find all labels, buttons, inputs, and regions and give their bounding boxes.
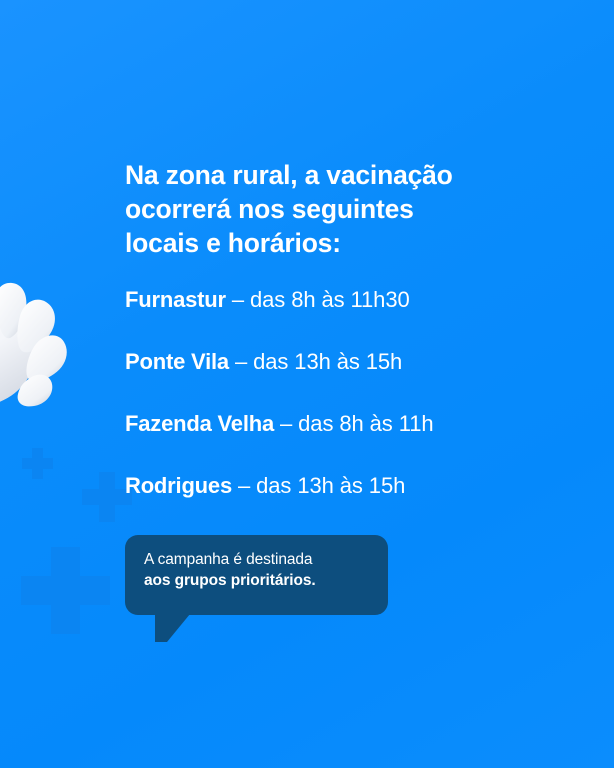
vaccination-campaign-poster: Na zona rural, a vacinação ocorrerá nos … <box>0 0 614 768</box>
list-item: Ponte Vila – das 13h às 15h <box>125 347 595 409</box>
page-title: Na zona rural, a vacinação ocorrerá nos … <box>125 158 505 260</box>
schedule-hours: – das 13h às 15h <box>229 349 402 374</box>
callout-bubble: A campanha é destinada aos grupos priori… <box>125 535 388 615</box>
poster-content: Na zona rural, a vacinação ocorrerá nos … <box>125 0 595 768</box>
list-item: Rodrigues – das 13h às 15h <box>125 471 595 533</box>
medical-cross-icon-large <box>21 547 110 634</box>
headline-line-2: ocorrerá nos seguintes <box>125 192 505 226</box>
schedule-place: Fazenda Velha <box>125 411 274 436</box>
gloved-hand-icon <box>0 282 102 408</box>
callout-line-2: aos grupos prioritários. <box>144 570 376 591</box>
medical-cross-icon-small <box>22 448 53 479</box>
headline-line-1: Na zona rural, a vacinação <box>125 158 505 192</box>
schedule-list: Furnastur – das 8h às 11h30 Ponte Vila –… <box>125 285 595 533</box>
list-item: Fazenda Velha – das 8h às 11h <box>125 409 595 471</box>
callout-line-1: A campanha é destinada <box>144 549 376 570</box>
schedule-place: Ponte Vila <box>125 349 229 374</box>
schedule-place: Furnastur <box>125 287 226 312</box>
schedule-hours: – das 13h às 15h <box>232 473 405 498</box>
callout-tail <box>155 614 190 642</box>
schedule-place: Rodrigues <box>125 473 232 498</box>
schedule-hours: – das 8h às 11h30 <box>226 287 410 312</box>
callout-text: A campanha é destinada aos grupos priori… <box>144 549 376 591</box>
headline-line-3: locais e horários: <box>125 226 505 260</box>
list-item: Furnastur – das 8h às 11h30 <box>125 285 595 347</box>
schedule-hours: – das 8h às 11h <box>274 411 433 436</box>
